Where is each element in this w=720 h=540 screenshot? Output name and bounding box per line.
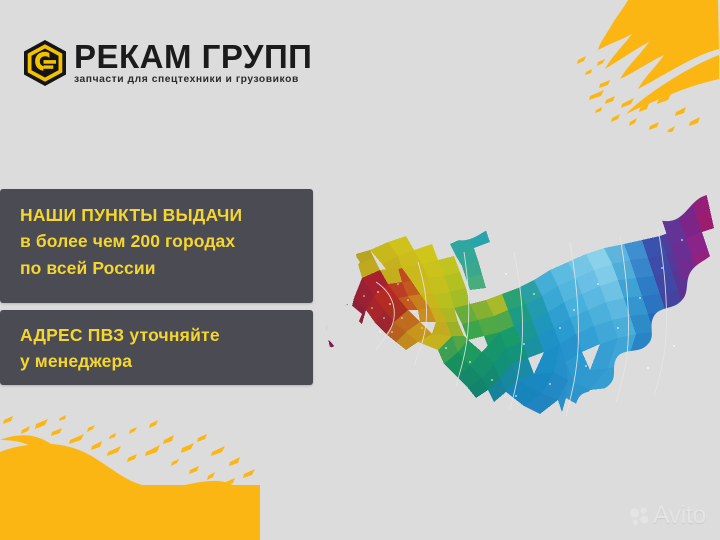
panel-line-manager: у менеджера [20,348,313,375]
panel-line-address-title: АДРЕС ПВЗ уточняйте [20,322,313,348]
avito-dots-icon [629,506,649,526]
info-panel-address: АДРЕС ПВЗ уточняйте у менеджера [0,310,313,385]
avito-wordmark: Avito [653,503,706,528]
panel-line-cities: в более чем 200 городах [20,228,313,255]
russia-low-poly-map-svg [318,132,714,418]
russia-map [318,132,714,418]
brand-logo: РЕКАМ ГРУПП запчасти для спецтехники и г… [22,38,312,87]
panel-line-title: НАШИ ПУНКТЫ ВЫДАЧИ [20,202,313,228]
info-panel-pickup-points: НАШИ ПУНКТЫ ВЫДАЧИ в более чем 200 город… [0,189,313,303]
logo-wordmark: РЕКАМ ГРУПП [74,40,312,73]
rekam-hex-emblem-icon [22,39,68,87]
panel-line-country: по всей России [20,255,313,282]
avito-watermark: Avito [629,503,706,528]
logo-tagline: запчасти для спецтехники и грузовиков [74,74,312,86]
promo-banner: РЕКАМ ГРУПП запчасти для спецтехники и г… [0,0,720,540]
